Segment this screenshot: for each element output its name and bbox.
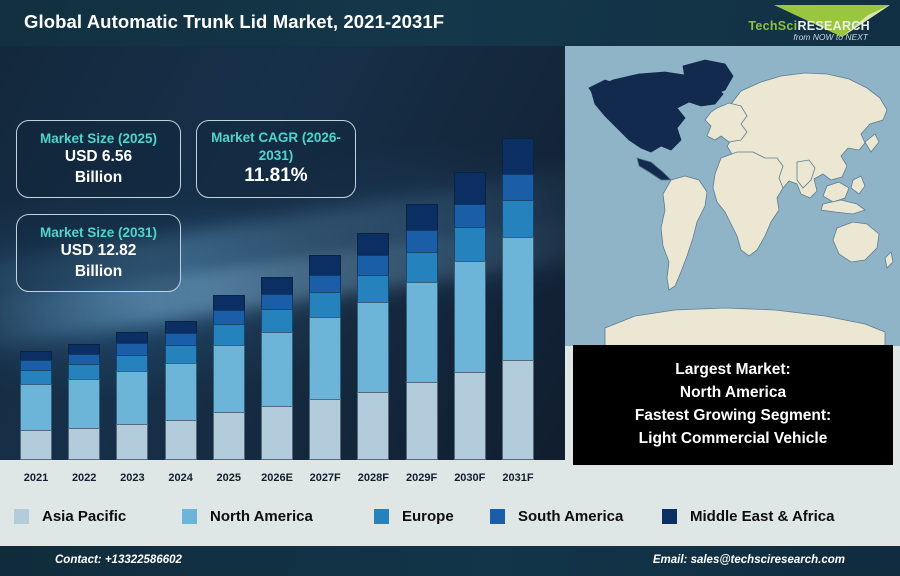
infographic-page: Global Automatic Trunk Lid Market, 2021-… xyxy=(0,0,900,576)
fastest-segment-value: Light Commercial Vehicle xyxy=(639,429,828,450)
world-map-svg xyxy=(565,46,900,346)
key-highlights-box: Largest Market: North America Fastest Gr… xyxy=(573,345,893,465)
world-map xyxy=(565,46,900,346)
legend-label: Europe xyxy=(402,508,454,525)
footer-email: Email: sales@techsciresearch.com xyxy=(653,554,845,566)
legend-label: South America xyxy=(518,508,623,525)
header-bar: Global Automatic Trunk Lid Market, 2021-… xyxy=(0,0,900,46)
largest-market-label: Largest Market: xyxy=(675,360,790,381)
legend-item-south-america[interactable]: South America xyxy=(490,508,623,525)
legend-swatch-icon xyxy=(490,509,505,524)
x-axis-label-2031F: 2031F xyxy=(490,472,546,484)
logo-text-techsci: TechSci xyxy=(748,19,797,33)
legend-item-asia-pacific[interactable]: Asia Pacific xyxy=(14,508,126,525)
largest-market-value: North America xyxy=(680,383,786,404)
legend-swatch-icon xyxy=(182,509,197,524)
logo-text-research: RESEARCH xyxy=(797,19,870,33)
legend-swatch-icon xyxy=(662,509,677,524)
legend-item-north-america[interactable]: North America xyxy=(182,508,313,525)
footer-contact: Contact: +13322586602 xyxy=(55,554,182,566)
logo-tagline: from NOW to NEXT xyxy=(793,32,868,42)
chart-legend: Asia PacificNorth AmericaEuropeSouth Ame… xyxy=(0,486,900,546)
legend-swatch-icon xyxy=(14,509,29,524)
legend-item-europe[interactable]: Europe xyxy=(374,508,454,525)
legend-swatch-icon xyxy=(374,509,389,524)
legend-label: Asia Pacific xyxy=(42,508,126,525)
chart-panel: Market Size (2025) USD 6.56 Billion Mark… xyxy=(0,46,565,486)
page-title: Global Automatic Trunk Lid Market, 2021-… xyxy=(24,11,444,33)
techsci-research-logo: TechSciRESEARCH from NOW to NEXT xyxy=(714,2,894,46)
footer-bar: Contact: +13322586602 Email: sales@techs… xyxy=(0,546,900,576)
logo-wordmark: TechSciRESEARCH xyxy=(748,19,870,33)
legend-label: North America xyxy=(210,508,313,525)
fastest-segment-label: Fastest Growing Segment: xyxy=(635,406,831,427)
legend-item-middle-east-africa[interactable]: Middle East & Africa xyxy=(662,508,834,525)
legend-label: Middle East & Africa xyxy=(690,508,834,525)
x-axis-labels: 202120222023202420252026E2027F2028F2029F… xyxy=(0,46,565,486)
